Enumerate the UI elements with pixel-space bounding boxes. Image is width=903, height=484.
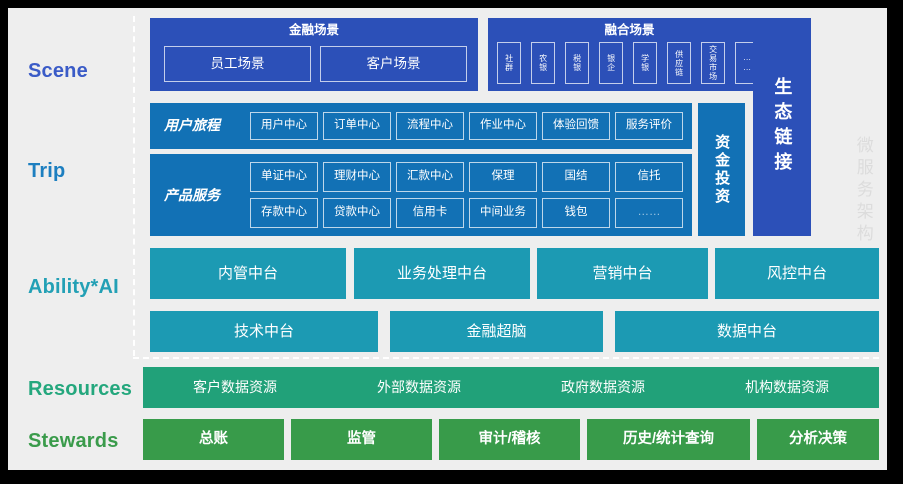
panel-user-journey[interactable]: 用户旅程 用户中心 订单中心 流程中心 作业中心 体验回馈 服务评价 [150, 103, 692, 149]
rail-labels: Scene Trip Ability*AI Resources Stewards [8, 8, 133, 470]
fusion-item-0[interactable]: 社群 [497, 42, 521, 84]
ability-row1-item-0[interactable]: 内管中台 [150, 248, 346, 299]
journey-item-4[interactable]: 体验回馈 [542, 112, 610, 140]
journey-item-5[interactable]: 服务评价 [615, 112, 683, 140]
journey-item-3[interactable]: 作业中心 [469, 112, 537, 140]
rail-label-scene: Scene [28, 60, 88, 83]
product-row2-item-0[interactable]: 存款中心 [250, 198, 318, 228]
product-row1-item-3[interactable]: 保理 [469, 162, 537, 192]
product-row1-item-0[interactable]: 单证中心 [250, 162, 318, 192]
horizontal-divider [133, 357, 879, 359]
panel-product-services-label: 产品服务 [164, 187, 220, 203]
stewards-item-4[interactable]: 分析决策 [757, 419, 879, 460]
vertical-divider [133, 16, 135, 356]
panel-capital-investment[interactable]: 资金投资 [698, 103, 745, 236]
product-row2-item-3[interactable]: 中间业务 [469, 198, 537, 228]
resources-item-1[interactable]: 外部数据资源 [327, 367, 511, 408]
rail-label-stewards: Stewards [28, 430, 119, 453]
product-row1-item-5[interactable]: 信托 [615, 162, 683, 192]
journey-item-2[interactable]: 流程中心 [396, 112, 464, 140]
stewards-item-3[interactable]: 历史/统计查询 [587, 419, 750, 460]
product-row1-item-2[interactable]: 汇款中心 [396, 162, 464, 192]
stewards-item-2[interactable]: 审计/稽核 [439, 419, 580, 460]
diagram-canvas: Scene Trip Ability*AI Resources Stewards… [8, 8, 887, 470]
panel-user-journey-label: 用户旅程 [164, 117, 220, 133]
resources-item-0[interactable]: 客户数据资源 [143, 367, 327, 408]
product-row2-item-5[interactable]: …… [615, 198, 683, 228]
ability-row2-item-2[interactable]: 数据中台 [615, 311, 879, 352]
panel-resources[interactable]: 客户数据资源 外部数据资源 政府数据资源 机构数据资源 [143, 367, 879, 408]
fusion-item-1[interactable]: 农银 [531, 42, 555, 84]
product-row1-item-4[interactable]: 国结 [542, 162, 610, 192]
ability-row2-item-0[interactable]: 技术中台 [150, 311, 378, 352]
fusion-item-6[interactable]: 交易市场 [701, 42, 725, 84]
product-row2-item-4[interactable]: 钱包 [542, 198, 610, 228]
product-row2-item-2[interactable]: 信用卡 [396, 198, 464, 228]
rail-label-ability: Ability*AI [28, 276, 119, 299]
resources-item-3[interactable]: 机构数据资源 [695, 367, 879, 408]
stewards-item-0[interactable]: 总账 [143, 419, 284, 460]
fusion-item-3[interactable]: 银企 [599, 42, 623, 84]
ability-row2-item-1[interactable]: 金融超脑 [390, 311, 603, 352]
product-row2-item-1[interactable]: 贷款中心 [323, 198, 391, 228]
panel-financial-scene[interactable]: 金融场景 员工场景 客户场景 [150, 18, 478, 91]
scene-item-customer[interactable]: 客户场景 [320, 46, 467, 82]
stewards-item-1[interactable]: 监管 [291, 419, 432, 460]
resources-item-2[interactable]: 政府数据资源 [511, 367, 695, 408]
fusion-item-2[interactable]: 税银 [565, 42, 589, 84]
panel-product-services[interactable]: 产品服务 单证中心 理财中心 汇款中心 保理 国结 信托 存款中心 贷款中心 信… [150, 154, 692, 236]
scene-item-employee[interactable]: 员工场景 [164, 46, 311, 82]
panel-ecology-link[interactable]: 生态链接 [753, 18, 811, 236]
rail-label-resources: Resources [28, 378, 132, 401]
rail-label-trip: Trip [28, 160, 65, 183]
ability-row1-item-2[interactable]: 营销中台 [537, 248, 708, 299]
fusion-item-5[interactable]: 供应链 [667, 42, 691, 84]
panel-financial-scene-title: 金融场景 [150, 23, 478, 37]
ability-row1-item-1[interactable]: 业务处理中台 [354, 248, 530, 299]
fusion-item-4[interactable]: 学银 [633, 42, 657, 84]
panel-fusion-scene-title: 融合场景 [488, 23, 771, 37]
product-row1-item-1[interactable]: 理财中心 [323, 162, 391, 192]
journey-item-1[interactable]: 订单中心 [323, 112, 391, 140]
journey-item-0[interactable]: 用户中心 [250, 112, 318, 140]
ability-row1-item-3[interactable]: 风控中台 [715, 248, 879, 299]
panel-fusion-scene[interactable]: 融合场景 社群 农银 税银 银企 学银 供应链 交易市场 …… [488, 18, 771, 91]
